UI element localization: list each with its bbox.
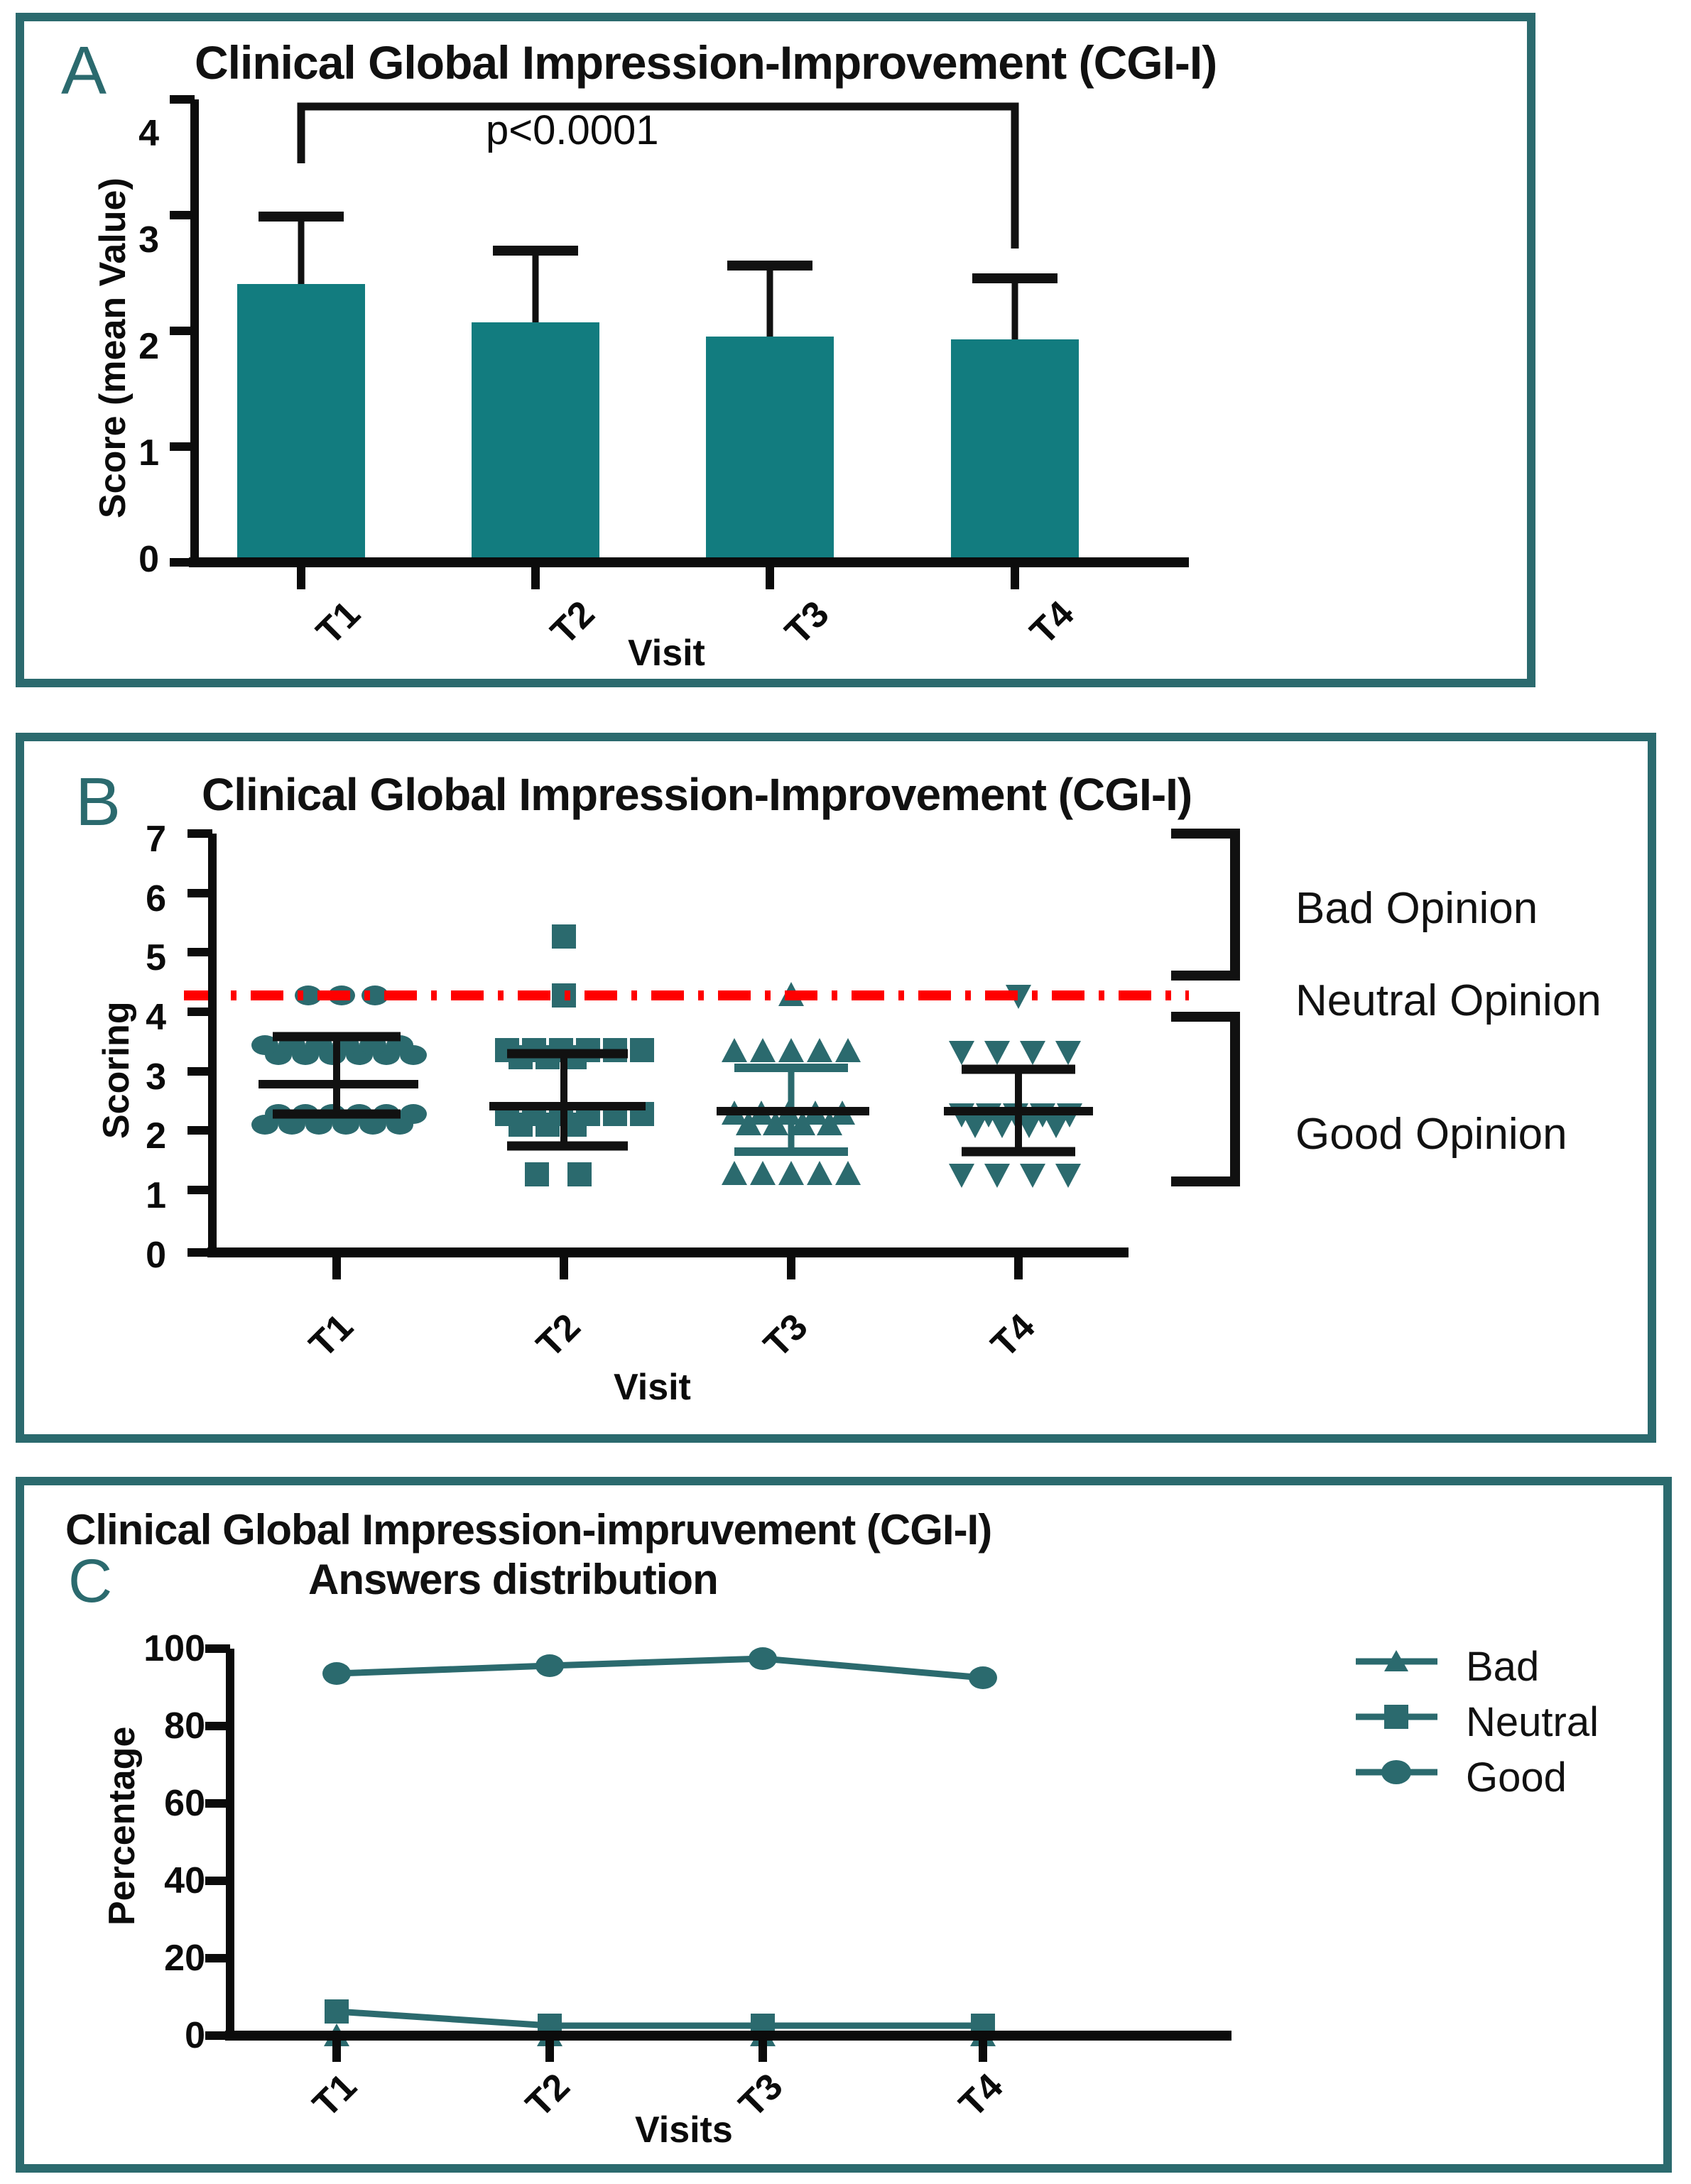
bar-t4 bbox=[951, 339, 1079, 561]
bar-t3 bbox=[706, 337, 834, 561]
panel-c-series-good bbox=[322, 1647, 997, 1689]
panel-c-axes bbox=[205, 1649, 1231, 2062]
panel-c-plot bbox=[24, 1485, 1680, 2181]
panel-b-stats-t4 bbox=[944, 1069, 1093, 1152]
panel-c: Clinical Global Impression-impruvement (… bbox=[16, 1477, 1672, 2173]
panel-b-plot bbox=[24, 741, 1665, 1451]
bar-t1 bbox=[237, 284, 365, 561]
bar-t2 bbox=[472, 322, 599, 561]
panel-a-error-bars bbox=[259, 217, 1057, 339]
panel-a-significance-bracket bbox=[301, 107, 1015, 249]
figure-page: A Clinical Global Impression-Improvement… bbox=[0, 0, 1691, 2184]
panel-a: A Clinical Global Impression-Improvement… bbox=[16, 13, 1535, 687]
panel-a-plot bbox=[24, 21, 1544, 696]
panel-c-legend-marks bbox=[1356, 1650, 1437, 1784]
panel-a-bars bbox=[237, 284, 1079, 561]
panel-b-brackets bbox=[1171, 834, 1235, 1181]
panel-b: B Clinical Global Impression-Improvement… bbox=[16, 733, 1656, 1443]
